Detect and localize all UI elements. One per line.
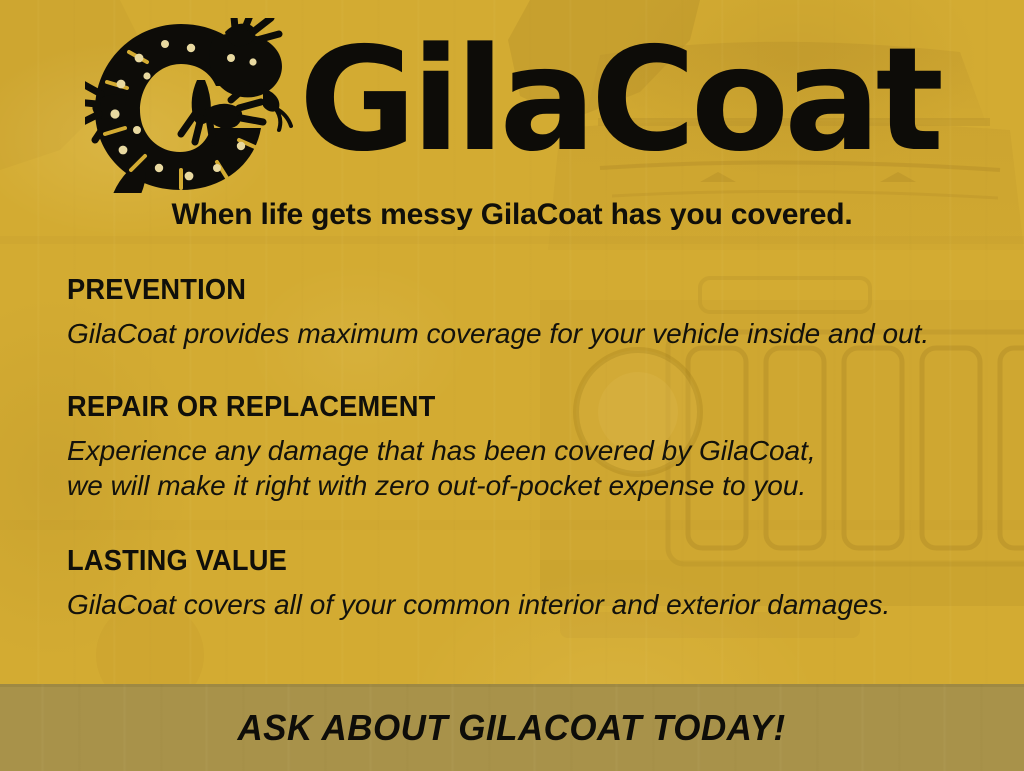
benefit-section-prevention: PREVENTION GilaCoat provides maximum cov… bbox=[67, 274, 987, 351]
benefits-list: PREVENTION GilaCoat provides maximum cov… bbox=[67, 274, 987, 622]
footer-cta-band: ASK ABOUT GILACOAT TODAY! bbox=[0, 684, 1024, 771]
benefit-heading: LASTING VALUE bbox=[67, 545, 932, 578]
benefit-body-line: GilaCoat provides maximum coverage for y… bbox=[67, 316, 987, 351]
benefit-heading: REPAIR OR REPLACEMENT bbox=[67, 391, 932, 424]
brand-wordmark: GilaCoat bbox=[299, 28, 939, 171]
gila-monster-lizard-g-monogram-icon bbox=[85, 18, 293, 193]
benefit-heading: PREVENTION bbox=[67, 274, 932, 307]
gilacoat-advertisement-poster: GilaCoat When life gets messy GilaCoat h… bbox=[0, 0, 1024, 771]
benefit-body-line: Experience any damage that has been cove… bbox=[67, 433, 987, 468]
benefit-body-line: GilaCoat covers all of your common inter… bbox=[67, 587, 987, 622]
brand-tagline: When life gets messy GilaCoat has you co… bbox=[0, 198, 1024, 232]
footer-cta-text: ASK ABOUT GILACOAT TODAY! bbox=[238, 707, 786, 749]
benefit-section-lasting-value: LASTING VALUE GilaCoat covers all of you… bbox=[67, 545, 987, 622]
benefit-body-line: we will make it right with zero out-of-p… bbox=[67, 468, 987, 503]
brand-logo-lockup: GilaCoat bbox=[0, 18, 1024, 193]
benefit-section-repair-or-replacement: REPAIR OR REPLACEMENT Experience any dam… bbox=[67, 391, 987, 503]
